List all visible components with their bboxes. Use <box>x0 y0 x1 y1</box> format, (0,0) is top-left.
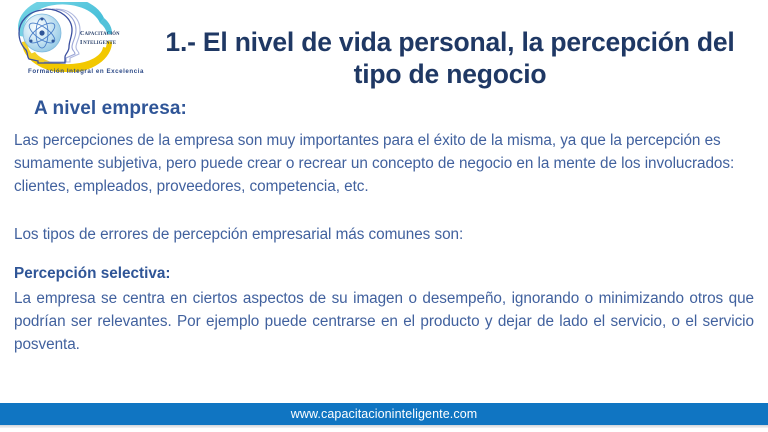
paragraph-percepciones: Las percepciones de la empresa son muy i… <box>14 130 754 198</box>
paragraph-percepcion-selectiva: La empresa se centra en ciertos aspectos… <box>14 288 754 356</box>
atom-nucleus <box>39 30 44 35</box>
logo-wordmark-line2-rest: NTELIGENTE <box>83 41 116 46</box>
brand-logo: C APACITACIÓN I NTELIGENTE Formación Int… <box>8 2 158 88</box>
slide-title: 1.- El nivel de vida personal, la percep… <box>140 26 760 91</box>
paragraph-tipos-errores: Los tipos de errores de percepción empre… <box>14 224 754 247</box>
slide-canvas: C APACITACIÓN I NTELIGENTE Formación Int… <box>0 0 768 432</box>
logo-mark-icon: C APACITACIÓN I NTELIGENTE <box>8 2 158 72</box>
error-type-label: Percepción selectiva: <box>14 265 170 283</box>
section-subheading: A nivel empresa: <box>34 98 187 120</box>
logo-tagline: Formación Integral en Excelencia <box>14 68 158 75</box>
atom-electron-2 <box>30 40 33 43</box>
atom-electron-1 <box>41 18 44 21</box>
footer-shadow <box>0 425 768 428</box>
footer-website-url[interactable]: www.capacitacioninteligente.com <box>0 403 768 425</box>
atom-electron-3 <box>52 40 55 43</box>
logo-wordmark-line1-rest: APACITACIÓN <box>85 31 121 37</box>
footer-bar: www.capacitacioninteligente.com <box>0 403 768 425</box>
